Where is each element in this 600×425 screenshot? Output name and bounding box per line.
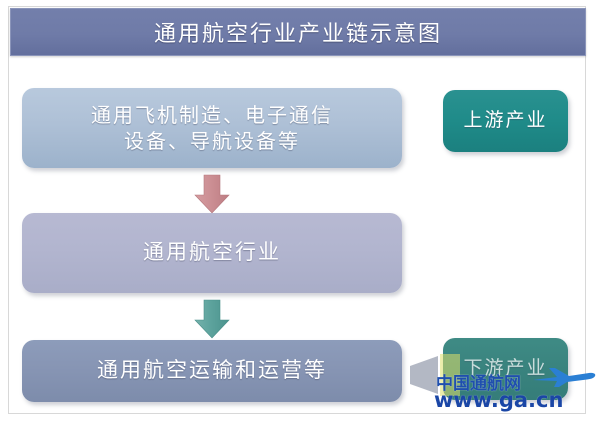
tier-tag-downstream: 下游产业 — [443, 338, 568, 400]
chain-node-core-label: 通用航空行业 — [143, 239, 281, 267]
figure-title-bar: 通用航空行业产业链示意图 — [10, 8, 586, 56]
down-arrow-icon-upstream-to-core — [191, 173, 233, 215]
page-title: 通用航空行业产业链示意图 — [154, 16, 442, 48]
down-arrow-icon-core-to-downstream — [191, 298, 233, 340]
chain-node-core: 通用航空行业 — [22, 213, 402, 293]
chain-node-upstream: 通用飞机制造、电子通信 设备、导航设备等 — [22, 88, 402, 168]
chain-node-upstream-label: 通用飞机制造、电子通信 设备、导航设备等 — [91, 102, 333, 155]
tier-tag-downstream-label: 下游产业 — [463, 356, 547, 381]
tier-tag-upstream-label: 上游产业 — [463, 108, 547, 133]
tier-tag-upstream: 上游产业 — [443, 90, 568, 152]
chain-node-downstream: 通用航空运输和运营等 — [22, 340, 402, 402]
chain-node-downstream-label: 通用航空运输和运营等 — [97, 357, 327, 385]
